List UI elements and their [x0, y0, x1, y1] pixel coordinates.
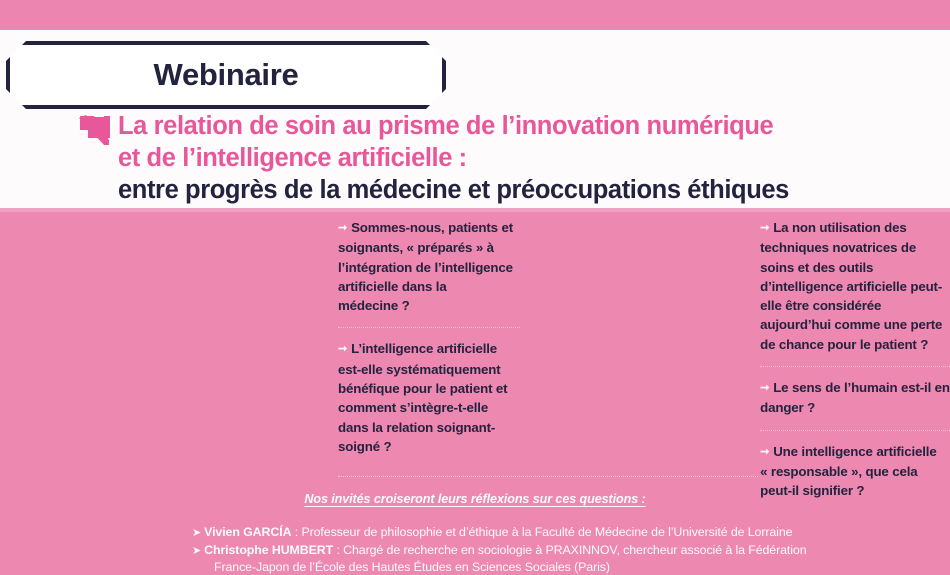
arrow-down-right-small-icon: ➞	[760, 446, 769, 458]
question-item: ➞La non utilisation des techniques novat…	[760, 218, 950, 354]
speaker-role: Chargé de recherche en sociologie à PRAX…	[343, 543, 806, 557]
title-line-3: entre progrès de la médecine et préoccup…	[118, 174, 938, 207]
speaker-separator: :	[291, 525, 301, 539]
speakers-list: ➤Vivien GARCÍA : Professeur de philosoph…	[192, 524, 950, 575]
speaker-role-continuation: France-Japon de l’École des Hautes Étude…	[192, 559, 950, 575]
arrow-right-small-icon: ➤	[192, 527, 201, 539]
badge-label: Webinaire	[154, 57, 299, 93]
list-item: ➤Christophe HUMBERT : Chargé de recherch…	[192, 542, 950, 560]
header-region: Webinaire La relation de soin au prisme …	[0, 30, 950, 212]
question-text: L’intelligence artificielle est-elle sys…	[338, 341, 507, 453]
arrow-down-right-small-icon: ➞	[338, 222, 347, 234]
title-block: La relation de soin au prisme de l’innov…	[118, 110, 938, 207]
content-panel: ➞Sommes-nous, patients et soignants, « p…	[0, 212, 950, 575]
question-divider	[760, 366, 950, 367]
speaker-role: Professeur de philosophie et d’éthique à…	[301, 525, 792, 539]
title-line-1: La relation de soin au prisme de l’innov…	[118, 110, 938, 142]
arrow-right-small-icon: ➤	[192, 545, 201, 557]
speaker-separator: :	[333, 543, 343, 557]
title-line-2: et de l’intelligence artificielle :	[118, 142, 938, 174]
arrow-down-right-icon	[78, 114, 112, 146]
list-item: ➤Vivien GARCÍA : Professeur de philosoph…	[192, 524, 950, 542]
question-item: ➞Sommes-nous, patients et soignants, « p…	[338, 218, 520, 315]
question-item: ➞L’intelligence artificielle est-elle sy…	[338, 339, 520, 456]
invitation-divider	[338, 476, 758, 477]
question-text: Sommes-nous, patients et soignants, « pr…	[338, 220, 513, 313]
question-text: Le sens de l’humain est-il en danger ?	[760, 380, 950, 415]
question-divider	[760, 430, 950, 431]
invitation-block: Nos invités croiseront leurs réflexions …	[0, 490, 950, 508]
questions-right-column: ➞La non utilisation des techniques novat…	[760, 218, 950, 501]
question-divider	[338, 327, 520, 328]
arrow-down-right-small-icon: ➞	[338, 343, 347, 355]
webinaire-badge: Webinaire	[6, 41, 446, 109]
question-item: ➞Le sens de l’humain est-il en danger ?	[760, 378, 950, 418]
question-text: La non utilisation des techniques novatr…	[760, 220, 942, 352]
questions-columns: ➞Sommes-nous, patients et soignants, « p…	[0, 218, 950, 501]
arrow-down-right-small-icon: ➞	[760, 222, 769, 234]
top-accent-band	[0, 0, 950, 30]
speaker-name: Christophe HUMBERT	[204, 543, 333, 557]
questions-left-column: ➞Sommes-nous, patients et soignants, « p…	[338, 218, 520, 501]
invitation-text: Nos invités croiseront leurs réflexions …	[304, 492, 645, 506]
speaker-name: Vivien GARCÍA	[204, 525, 291, 539]
arrow-down-right-small-icon: ➞	[760, 382, 769, 394]
